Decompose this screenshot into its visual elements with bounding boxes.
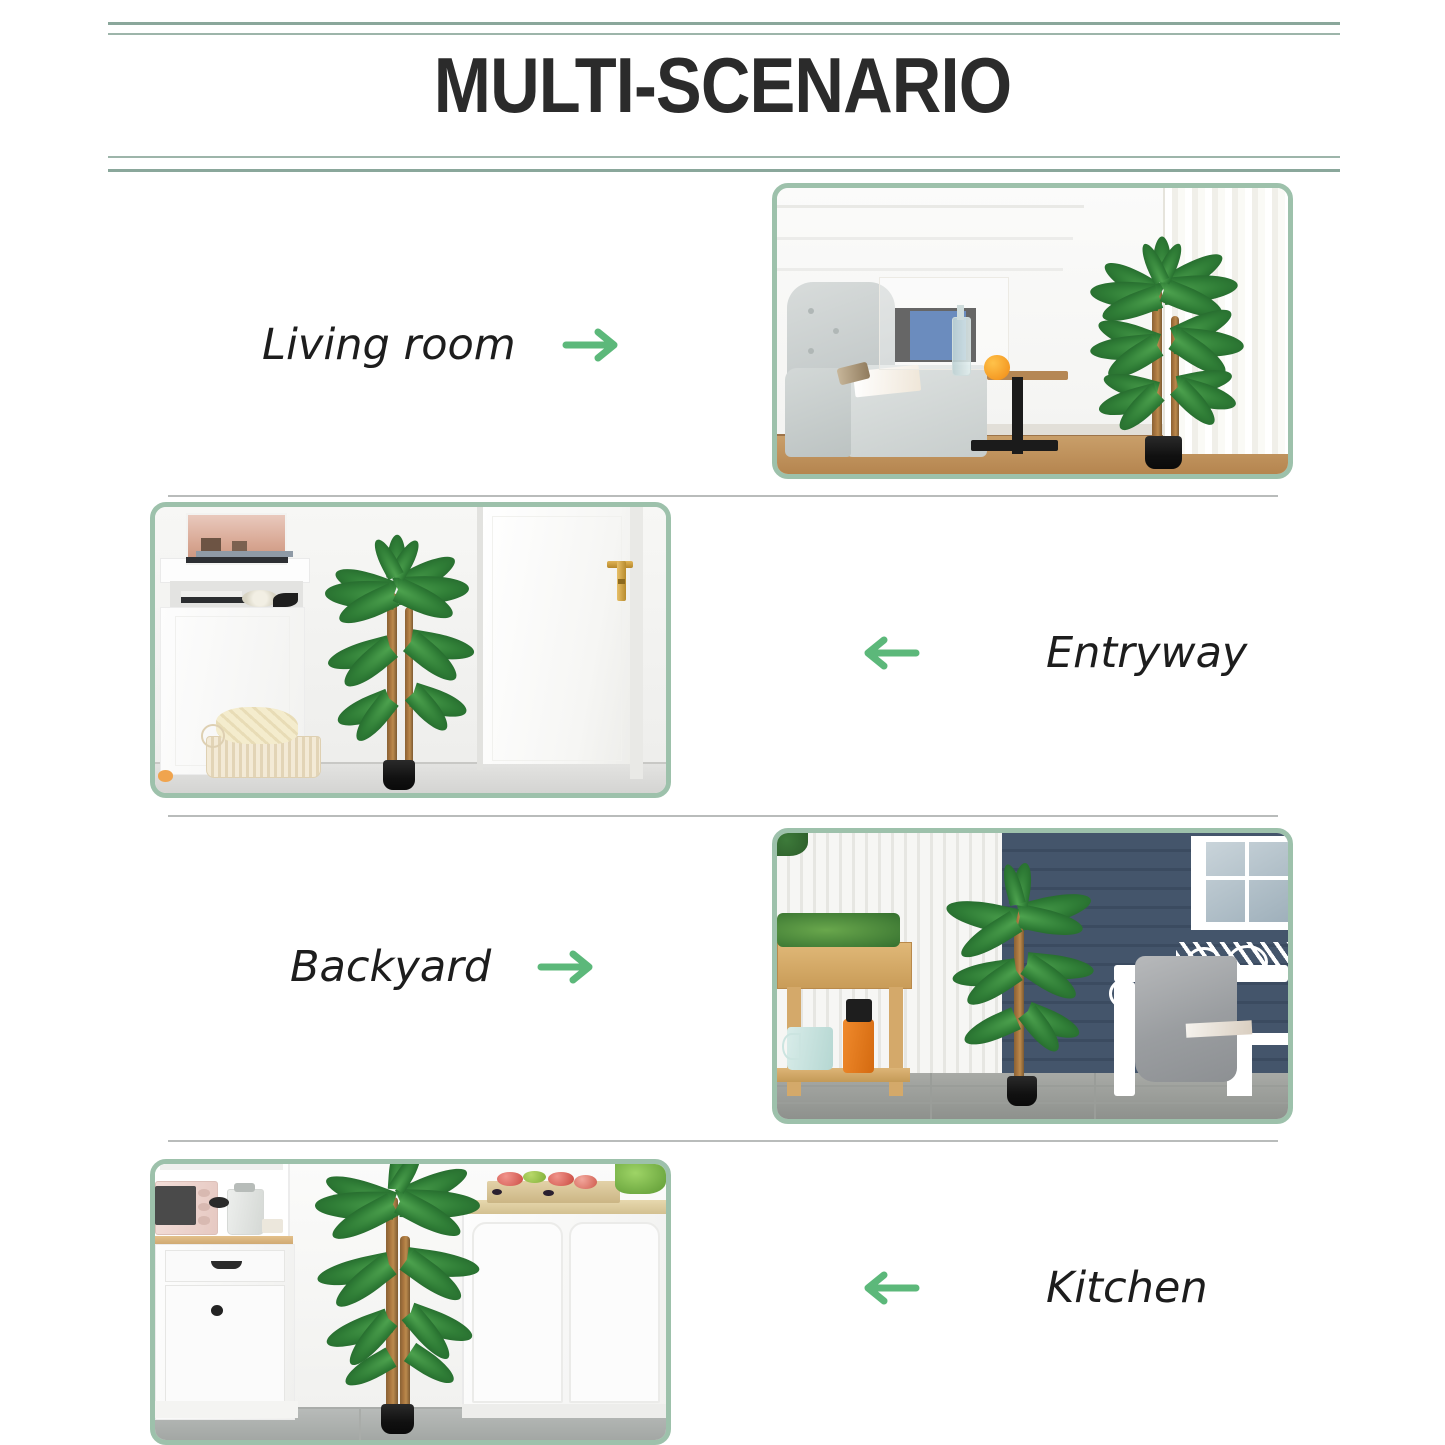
photo-entryway	[150, 502, 671, 798]
caption-label-living-room: Living room	[262, 320, 516, 370]
kitchen-photo	[155, 1164, 666, 1440]
caption-label-backyard: Backyard	[290, 942, 491, 992]
living-room-photo	[777, 188, 1288, 474]
arrow-right-icon	[537, 947, 599, 987]
photo-living-room	[772, 183, 1293, 479]
arrow-left-icon	[858, 633, 920, 673]
photo-kitchen	[150, 1159, 671, 1445]
caption-living-room: Living room	[262, 320, 624, 370]
arrow-right-icon	[562, 325, 624, 365]
arrow-left-icon	[858, 1268, 920, 1308]
page-title: MULTI-SCENARIO	[87, 45, 1359, 127]
page-header: MULTI-SCENARIO	[0, 0, 1445, 180]
entryway-photo	[155, 507, 666, 793]
caption-entryway: Entryway	[858, 628, 1247, 678]
row-divider-1	[168, 495, 1278, 497]
row-divider-3	[168, 1140, 1278, 1142]
caption-backyard: Backyard	[290, 942, 599, 992]
caption-label-entryway: Entryway	[1046, 628, 1247, 678]
backyard-photo	[777, 833, 1288, 1119]
header-rule-top-outer	[108, 22, 1340, 25]
header-rule-bottom-inner	[108, 156, 1340, 158]
header-rule-top-inner	[108, 33, 1340, 35]
caption-label-kitchen: Kitchen	[1046, 1263, 1208, 1313]
row-divider-2	[168, 815, 1278, 817]
photo-backyard	[772, 828, 1293, 1124]
caption-kitchen: Kitchen	[858, 1263, 1208, 1313]
header-rule-bottom-outer	[108, 169, 1340, 172]
